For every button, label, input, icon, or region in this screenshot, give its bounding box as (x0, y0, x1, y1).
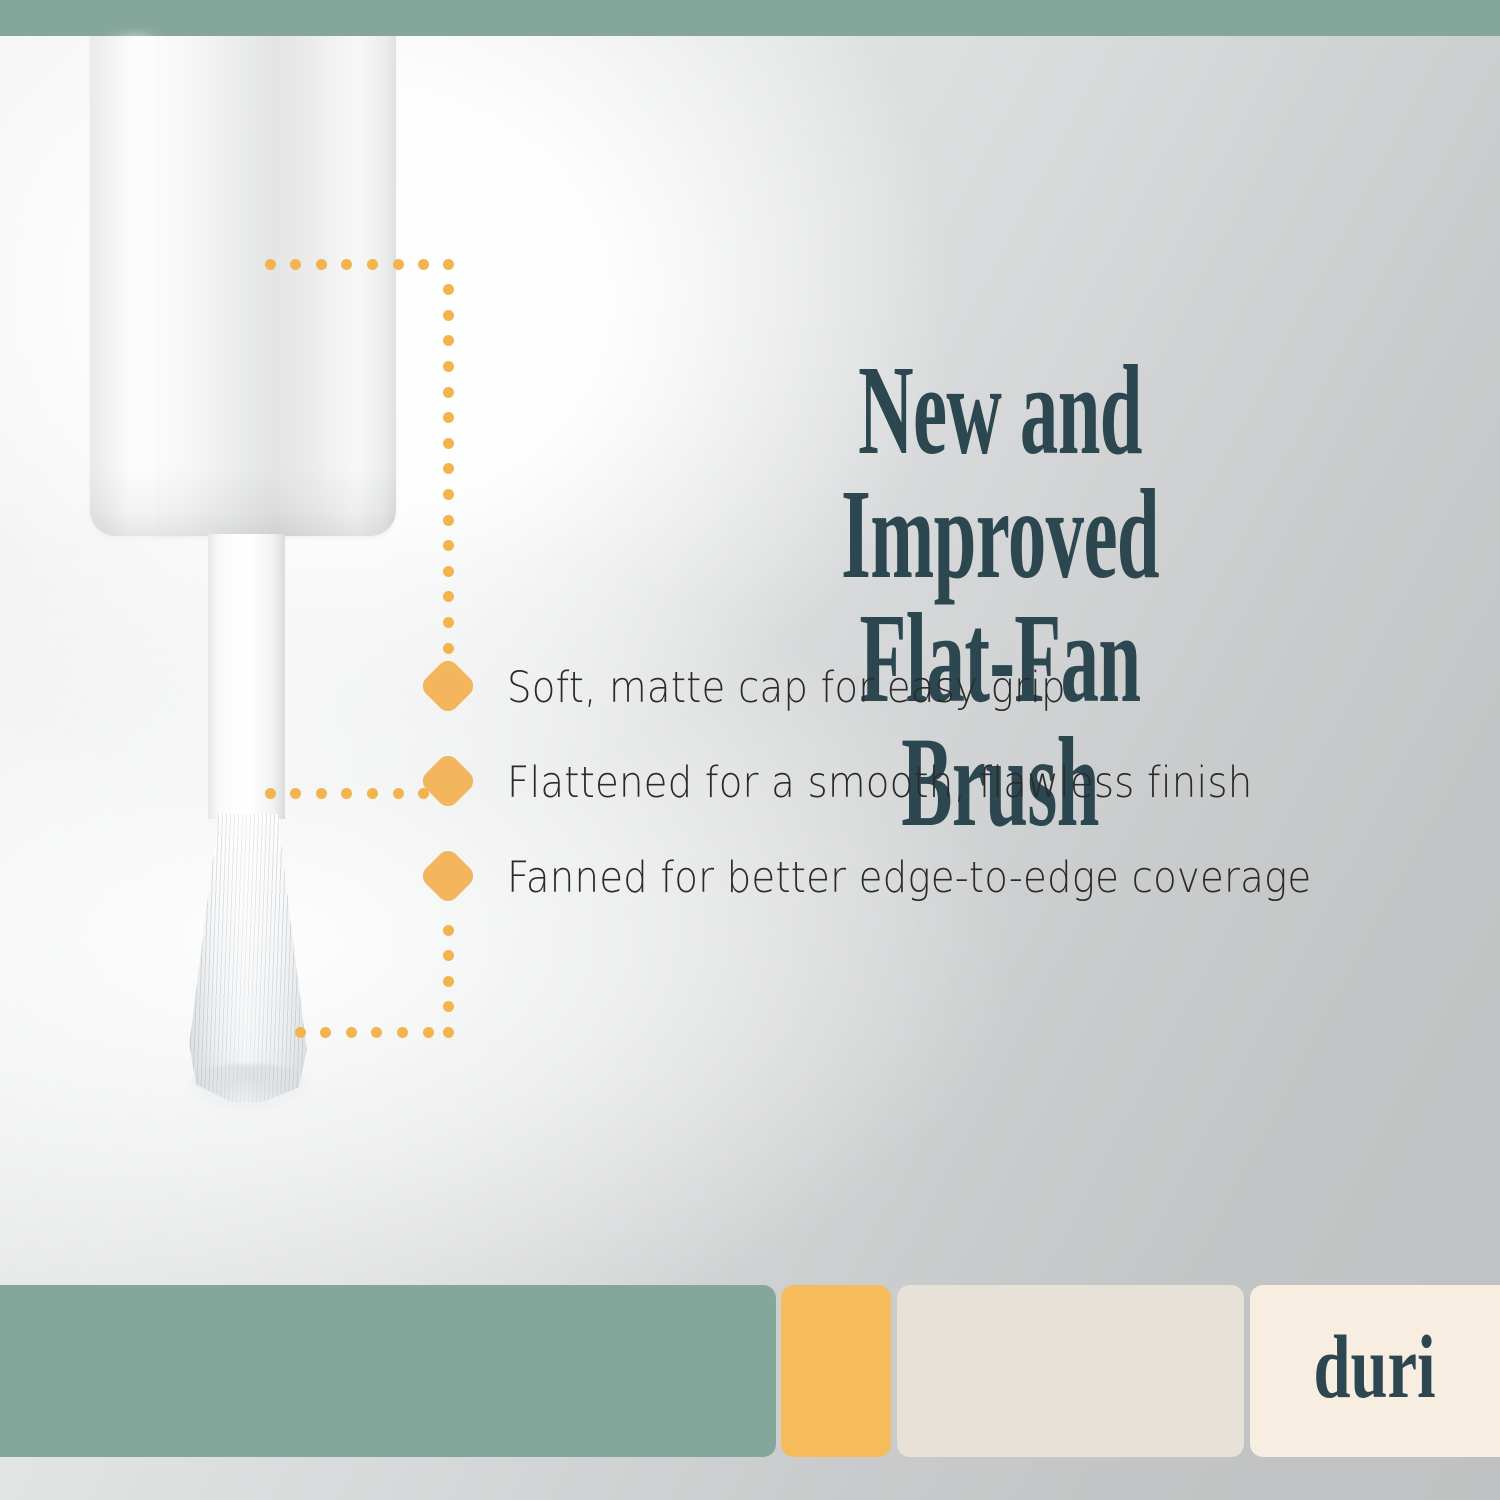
connector-dot (443, 976, 454, 987)
bristle-tip-shadow (186, 1064, 310, 1110)
brush-stem-edge (208, 534, 285, 819)
connector-dot (367, 788, 378, 799)
connector-dot (393, 259, 404, 270)
connector-dot (443, 643, 454, 654)
feature-list: Soft, matte cap for easy grip Flattened … (425, 660, 1475, 945)
connector-dot (443, 335, 454, 346)
connector-dot (443, 463, 454, 474)
connector-dot (346, 1027, 357, 1038)
green-block (0, 1285, 776, 1457)
connector-dot (295, 1027, 306, 1038)
connector-dot (341, 788, 352, 799)
connector-dot (371, 1027, 382, 1038)
connector-dot (265, 788, 276, 799)
connector-dot (443, 950, 454, 961)
bottom-color-bar: duri (0, 1285, 1500, 1457)
connector-dot (320, 1027, 331, 1038)
connector-dot (443, 438, 454, 449)
headline-line-1: New and Improved (841, 339, 1159, 605)
connector-dot (443, 259, 454, 270)
connector-dot (290, 788, 301, 799)
gold-block (781, 1285, 891, 1457)
connector-dot (443, 540, 454, 551)
list-item: Soft, matte cap for easy grip (425, 660, 1475, 755)
connector-dot (423, 1027, 434, 1038)
feature-label: Flattened for a smooth, flawless finish (507, 755, 1252, 811)
connector-dot (290, 259, 301, 270)
product-photo (0, 36, 470, 1156)
connector-dot (367, 259, 378, 270)
connector-dot (443, 361, 454, 372)
list-item: Flattened for a smooth, flawless finish (425, 755, 1475, 850)
connector-dot (393, 788, 404, 799)
greige-block (897, 1285, 1244, 1457)
connector-dot (443, 591, 454, 602)
connector-dot (443, 412, 454, 423)
connector-dot (316, 259, 327, 270)
brand-logo: duri (1314, 1323, 1436, 1419)
connector-dot (443, 387, 454, 398)
cream-logo-block: duri (1250, 1285, 1500, 1457)
top-accent-strip (0, 0, 1500, 36)
connector-dot (397, 1027, 408, 1038)
diamond-bullet-icon (418, 656, 477, 715)
connector-dot (443, 515, 454, 526)
marketing-banner: New and ImprovedFlat-Fan Brush Soft, mat… (0, 0, 1500, 1500)
connector-dot (443, 1001, 454, 1012)
connector-dot (443, 284, 454, 295)
connector-dot (443, 489, 454, 500)
connector-dot (316, 788, 327, 799)
connector-dot (341, 259, 352, 270)
connector-dot (265, 259, 276, 270)
list-item: Fanned for better edge-to-edge coverage (425, 850, 1475, 945)
feature-label: Fanned for better edge-to-edge coverage (507, 850, 1311, 906)
cap-highlight (106, 36, 162, 536)
diamond-bullet-icon (418, 846, 477, 905)
feature-label: Soft, matte cap for easy grip (507, 660, 1066, 716)
connector-dot (443, 310, 454, 321)
connector-dot (443, 566, 454, 577)
connector-dot (443, 617, 454, 628)
diamond-bullet-icon (418, 751, 477, 810)
connector-dot (418, 259, 429, 270)
cap-shadow (90, 466, 396, 536)
connector-dot (443, 1027, 454, 1038)
bristles-shading (178, 814, 318, 1102)
